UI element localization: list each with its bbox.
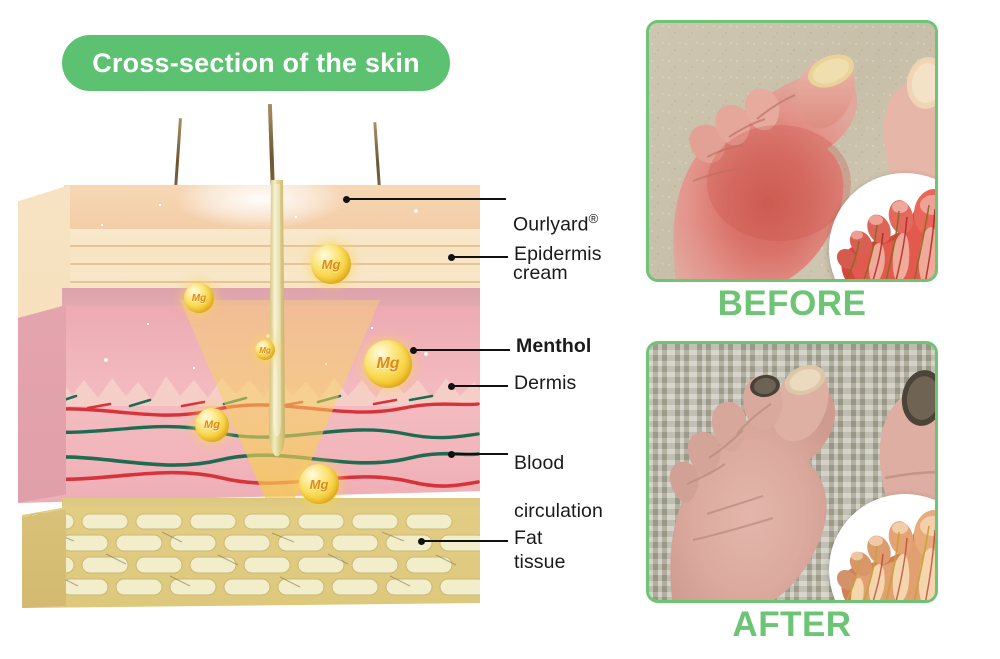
after-photo[interactable] [646,341,938,603]
mg-molecule-bubble: Mg [364,340,412,388]
comparison-item-after: AFTER [630,327,1000,649]
mg-symbol: Mg [310,477,329,492]
callout-label-main: Ourlyard [513,214,589,236]
callout-label: Dermis [514,371,576,395]
mg-symbol: Mg [204,419,220,431]
page-root: Cross-section of the skin [0,0,1000,659]
fat-tissue-layer [22,498,480,608]
mg-symbol: Mg [322,257,341,272]
callout-label: Blood circulation [514,427,603,523]
mg-molecule-bubble: Mg [195,408,229,442]
callout-label-sup: ® [589,211,599,226]
dermis-side [18,288,66,503]
fat-cells [22,508,480,608]
callout-line [348,198,506,200]
mg-molecule-bubble: Mg [311,244,351,284]
callout-label: Ourlyard® cream [513,183,598,285]
mg-molecule-bubble: Mg [299,464,339,504]
callout-label-line1: Blood [514,452,564,474]
after-caption: AFTER [646,605,938,645]
before-caption: BEFORE [646,284,938,324]
fat-tissue-body [22,508,480,608]
callout-line [453,453,508,455]
callout-line [453,256,508,258]
mg-symbol: Mg [259,346,271,355]
skin-cross-section-diagram: Cross-section of the skin [0,0,630,659]
callout-line [453,385,508,387]
page-title-badge: Cross-section of the skin [62,35,450,91]
callout-label-line2: circulation [514,500,603,522]
callout-label: Menthol [516,334,591,358]
mg-symbol: Mg [376,355,399,373]
mg-molecule-bubble: Mg [255,340,275,360]
callout-line [415,349,510,351]
comparison-item-before: BEFORE [630,6,1000,328]
before-after-comparison: BEFORE [630,0,1000,659]
mg-molecule-bubble: Mg [184,283,214,313]
page-title: Cross-section of the skin [92,48,420,79]
mg-symbol: Mg [192,293,206,304]
callout-line [423,540,508,542]
callout-label: Fat tissue [514,526,566,574]
callout-label: Epidermis [514,242,602,266]
before-photo[interactable] [646,20,938,282]
